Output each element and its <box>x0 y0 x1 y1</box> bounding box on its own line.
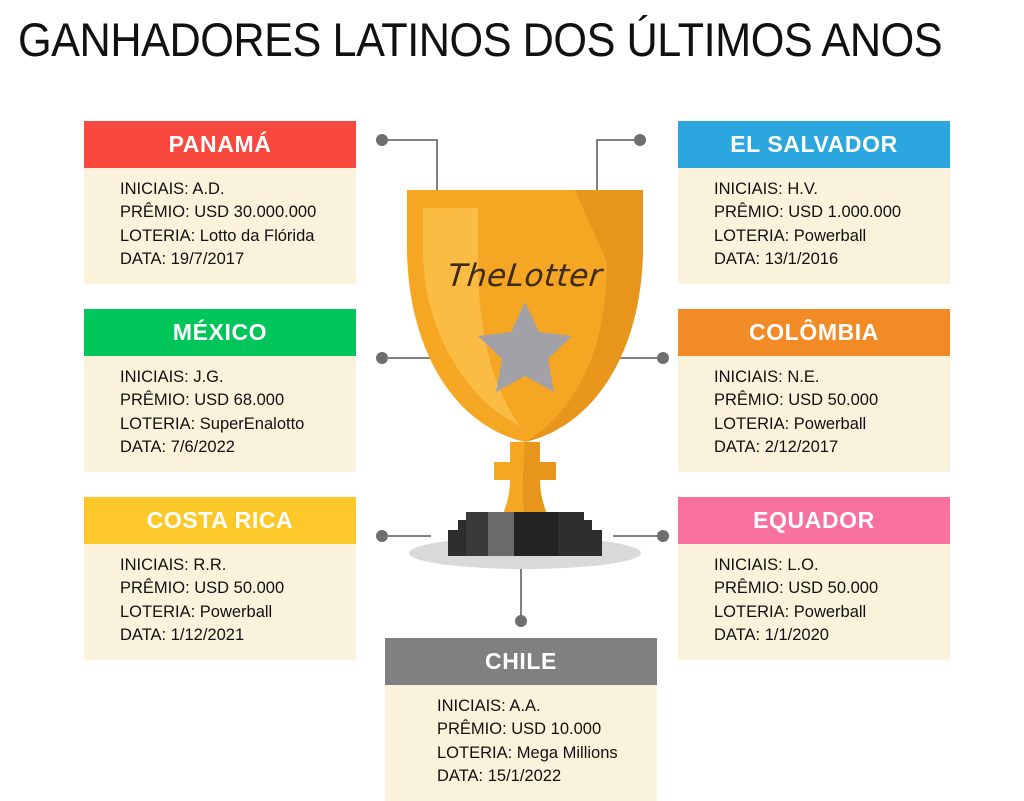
card-line-iniciais: INICIAIS: N.E. <box>714 366 950 389</box>
card-colombia[interactable]: COLÔMBIA INICIAIS: N.E. PRÊMIO: USD 50.0… <box>678 309 950 472</box>
card-line-loteria: LOTERIA: Powerball <box>120 601 356 624</box>
card-header-costa-rica: COSTA RICA <box>84 497 356 544</box>
card-line-data: DATA: 15/1/2022 <box>437 765 657 788</box>
card-line-premio: PRÊMIO: USD 10.000 <box>437 718 657 741</box>
card-body-costa-rica: INICIAIS: R.R. PRÊMIO: USD 50.000 LOTERI… <box>84 544 356 660</box>
card-country-panama: PANAMÁ <box>169 131 272 158</box>
card-country-equador: EQUADOR <box>753 507 875 534</box>
card-line-loteria: LOTERIA: Mega Millions <box>437 742 657 765</box>
card-line-premio: PRÊMIO: USD 50.000 <box>714 577 950 600</box>
card-country-costa-rica: COSTA RICA <box>147 507 294 534</box>
card-country-el-salvador: EL SALVADOR <box>730 131 898 158</box>
connector-line-panama-horizontal <box>388 139 438 141</box>
card-line-iniciais: INICIAIS: R.R. <box>120 554 356 577</box>
connector-dot-chile <box>515 615 527 627</box>
card-line-data: DATA: 1/12/2021 <box>120 624 356 647</box>
card-header-colombia: COLÔMBIA <box>678 309 950 356</box>
card-line-data: DATA: 2/12/2017 <box>714 436 950 459</box>
card-line-data: DATA: 7/6/2022 <box>120 436 356 459</box>
card-country-mexico: MÉXICO <box>173 319 267 346</box>
card-line-iniciais: INICIAIS: L.O. <box>714 554 950 577</box>
card-line-data: DATA: 1/1/2020 <box>714 624 950 647</box>
card-line-iniciais: INICIAIS: A.D. <box>120 178 356 201</box>
trophy-wordmark: TheLotter <box>368 258 682 294</box>
trophy-illustration: TheLotter <box>370 150 680 580</box>
card-line-loteria: LOTERIA: Lotto da Flórida <box>120 225 356 248</box>
card-panama[interactable]: PANAMÁ INICIAIS: A.D. PRÊMIO: USD 30.000… <box>84 121 356 284</box>
card-line-premio: PRÊMIO: USD 50.000 <box>120 577 356 600</box>
card-chile[interactable]: CHILE INICIAIS: A.A. PRÊMIO: USD 10.000 … <box>385 638 657 801</box>
trophy-base-dark-panel <box>514 512 558 556</box>
card-line-loteria: LOTERIA: Powerball <box>714 225 950 248</box>
card-body-colombia: INICIAIS: N.E. PRÊMIO: USD 50.000 LOTERI… <box>678 356 950 472</box>
trophy-base-stripe <box>488 512 514 556</box>
connector-dot-panama <box>376 134 388 146</box>
card-line-loteria: LOTERIA: Powerball <box>714 601 950 624</box>
card-line-loteria: LOTERIA: SuperEnalotto <box>120 413 356 436</box>
card-line-data: DATA: 19/7/2017 <box>120 248 356 271</box>
card-line-loteria: LOTERIA: Powerball <box>714 413 950 436</box>
card-costa-rica[interactable]: COSTA RICA INICIAIS: R.R. PRÊMIO: USD 50… <box>84 497 356 660</box>
card-el-salvador[interactable]: EL SALVADOR INICIAIS: H.V. PRÊMIO: USD 1… <box>678 121 950 284</box>
card-body-mexico: INICIAIS: J.G. PRÊMIO: USD 68.000 LOTERI… <box>84 356 356 472</box>
card-body-equador: INICIAIS: L.O. PRÊMIO: USD 50.000 LOTERI… <box>678 544 950 660</box>
card-header-mexico: MÉXICO <box>84 309 356 356</box>
connector-dot-el-salvador <box>634 134 646 146</box>
card-line-iniciais: INICIAIS: J.G. <box>120 366 356 389</box>
card-header-panama: PANAMÁ <box>84 121 356 168</box>
card-header-equador: EQUADOR <box>678 497 950 544</box>
card-line-premio: PRÊMIO: USD 1.000.000 <box>714 201 950 224</box>
card-header-el-salvador: EL SALVADOR <box>678 121 950 168</box>
trophy-svg <box>370 150 680 580</box>
card-country-colombia: COLÔMBIA <box>749 319 879 346</box>
card-line-iniciais: INICIAIS: A.A. <box>437 695 657 718</box>
card-body-el-salvador: INICIAIS: H.V. PRÊMIO: USD 1.000.000 LOT… <box>678 168 950 284</box>
card-country-chile: CHILE <box>485 648 557 675</box>
card-body-panama: INICIAIS: A.D. PRÊMIO: USD 30.000.000 LO… <box>84 168 356 284</box>
card-line-premio: PRÊMIO: USD 30.000.000 <box>120 201 356 224</box>
card-line-premio: PRÊMIO: USD 68.000 <box>120 389 356 412</box>
page-title: GANHADORES LATINOS DOS ÚLTIMOS ANOS <box>18 14 929 66</box>
card-header-chile: CHILE <box>385 638 657 685</box>
card-equador[interactable]: EQUADOR INICIAIS: L.O. PRÊMIO: USD 50.00… <box>678 497 950 660</box>
card-body-chile: INICIAIS: A.A. PRÊMIO: USD 10.000 LOTERI… <box>385 685 657 801</box>
card-mexico[interactable]: MÉXICO INICIAIS: J.G. PRÊMIO: USD 68.000… <box>84 309 356 472</box>
trophy-base-left-panel <box>466 512 488 556</box>
card-line-premio: PRÊMIO: USD 50.000 <box>714 389 950 412</box>
card-line-iniciais: INICIAIS: H.V. <box>714 178 950 201</box>
card-line-data: DATA: 13/1/2016 <box>714 248 950 271</box>
